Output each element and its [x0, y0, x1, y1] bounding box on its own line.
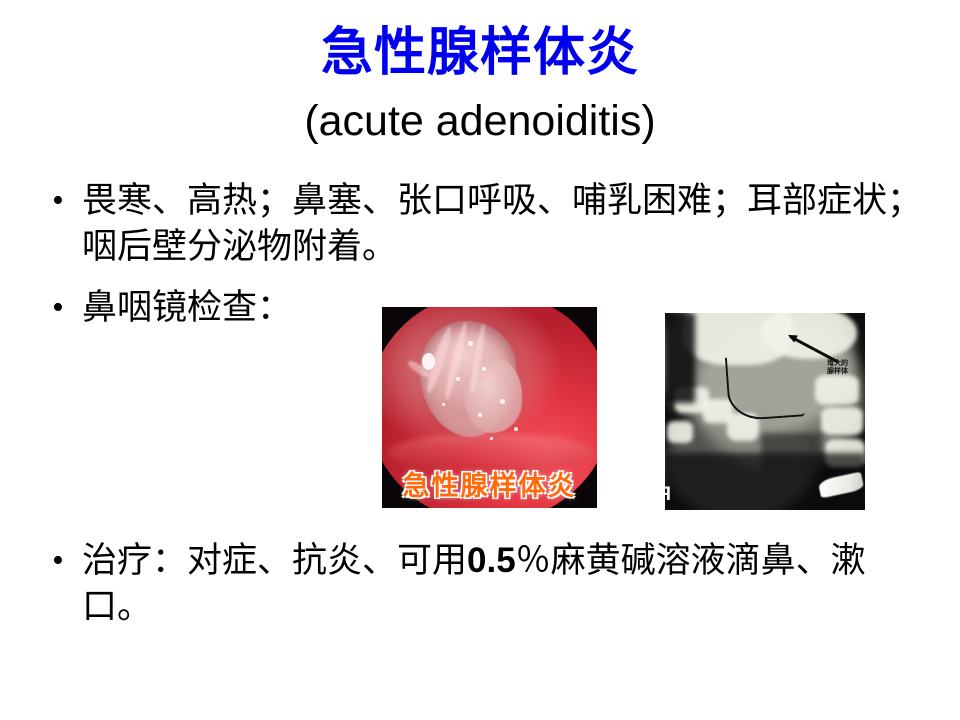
xray-air-space	[665, 313, 695, 403]
bullet-examination-text: 鼻咽镜检查：	[82, 285, 432, 331]
xray-image: 增大的 腺样体 R-L	[665, 313, 865, 510]
bullet-symptoms: • 畏寒、高热；鼻塞、张口呼吸、哺乳困难；耳部症状；咽后壁分泌物附着。	[52, 178, 922, 270]
bullet-symptoms-text: 畏寒、高热；鼻塞、张口呼吸、哺乳困难；耳部症状；咽后壁分泌物附着。	[82, 178, 922, 270]
bullet-treatment: • 治疗：对症、抗炎、可用0.5％麻黄碱溶液滴鼻、漱口。	[52, 538, 932, 630]
bullet-marker-icon: •	[52, 538, 82, 584]
endoscopy-specular-highlight	[490, 437, 493, 440]
endoscopy-specular-highlight	[456, 377, 460, 381]
bullet-treatment-text: 治疗：对症、抗炎、可用0.5％麻黄碱溶液滴鼻、漱口。	[82, 538, 932, 630]
endoscopy-specular-highlight	[514, 427, 518, 431]
xray-cervical-vertebra	[821, 407, 863, 435]
xray-anterior-teeth	[667, 421, 693, 443]
xray-annotation: 增大的 腺样体	[827, 359, 861, 375]
endoscopy-specular-highlight	[422, 353, 435, 370]
endoscopy-specular-highlight	[442, 403, 445, 406]
endoscopy-specular-highlight	[468, 341, 473, 346]
bullet-examination: • 鼻咽镜检查：	[52, 285, 432, 331]
treatment-text-before: 治疗：对症、抗炎、可用	[82, 541, 467, 581]
bullet-marker-icon: •	[52, 285, 82, 331]
page-title-english: (acute adenoiditis)	[0, 96, 960, 146]
endoscopy-specular-highlight	[500, 399, 505, 404]
xray-lateral-skull: 增大的 腺样体 R-L	[665, 313, 865, 510]
xray-cervical-vertebra	[815, 375, 859, 405]
page-title-chinese: 急性腺样体炎	[0, 22, 960, 84]
xray-annotation-line1: 增大的	[827, 359, 861, 367]
xray-oropharynx-airway	[761, 433, 821, 473]
xray-adenoid-outline	[725, 352, 805, 421]
endoscopy-caption: 急性腺样体炎	[382, 472, 597, 502]
xray-side-marker: R-L	[665, 484, 671, 506]
endoscopy-specular-highlight	[478, 413, 482, 417]
treatment-dose-value: 0.5	[467, 541, 516, 580]
endoscopy-image: 急性腺样体炎	[382, 307, 597, 508]
endoscopy-specular-highlight	[482, 367, 486, 371]
xray-annotation-line2: 腺样体	[827, 367, 861, 375]
xray-occiput	[761, 313, 857, 359]
bullet-marker-icon: •	[52, 178, 82, 224]
